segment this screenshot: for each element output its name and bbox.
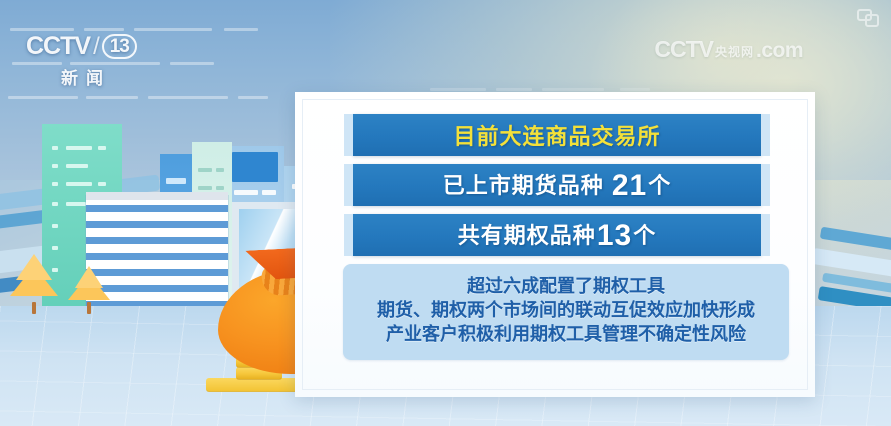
channel-logo: CCTV / 13 新闻 [26,32,146,84]
futures-suffix: 个 [648,173,671,198]
channel-number: 13 [102,34,137,59]
channel-name: 新闻 [26,64,146,89]
options-suffix: 个 [633,223,656,248]
bar-left-tab [344,114,353,156]
note-line-3: 产业客户积极利用期权工具管理不确定性风险 [351,323,781,347]
bar-options: 共有期权品种13个 [353,214,761,256]
info-card: 目前大连商品交易所 已上市期货品种 21个 共有期权品种13个 超过六成配置了期… [295,92,815,397]
bar-title-text: 目前大连商品交易所 [453,119,660,151]
broadcast-frame: 目前大连商品交易所 已上市期货品种 21个 共有期权品种13个 超过六成配置了期… [0,0,891,426]
bar-left-tab [344,164,353,206]
note-panel: 超过六成配置了期权工具 期货、期权两个市场间的联动互促效应加快形成 产业客户积极… [343,264,789,360]
watermark-chinese: 央视网 [715,43,754,63]
cctv-watermark: CCTV 央视网 .com [654,36,803,63]
channel-logo-row: CCTV / 13 [26,32,146,61]
futures-number: 21 [611,169,648,202]
note-line-2: 期货、期权两个市场间的联动互促效应加快形成 [351,299,781,323]
tree-left [10,250,58,314]
options-number: 13 [596,219,633,252]
watermark-com: .com [756,39,803,63]
logo-slash: / [93,33,99,61]
cctv-wordmark: CCTV [26,32,90,61]
options-prefix: 共有期权品种 [458,223,596,248]
bar-options-text: 共有期权品种13个 [458,218,656,253]
futures-prefix: 已上市期货品种 [443,173,611,198]
bar-right-tab [761,164,770,206]
screen-share-icon[interactable] [857,8,879,28]
bar-left-tab [344,214,353,256]
bar-title: 目前大连商品交易所 [353,114,761,156]
bar-right-tab [761,214,770,256]
watermark-cctv: CCTV [654,36,713,63]
note-line-1: 超过六成配置了期权工具 [351,275,781,299]
tree-right [68,262,110,314]
bar-futures-text: 已上市期货品种 21个 [443,168,672,203]
bar-futures: 已上市期货品种 21个 [353,164,761,206]
bar-right-tab [761,114,770,156]
stat-bars: 目前大连商品交易所 已上市期货品种 21个 共有期权品种13个 [353,114,761,264]
